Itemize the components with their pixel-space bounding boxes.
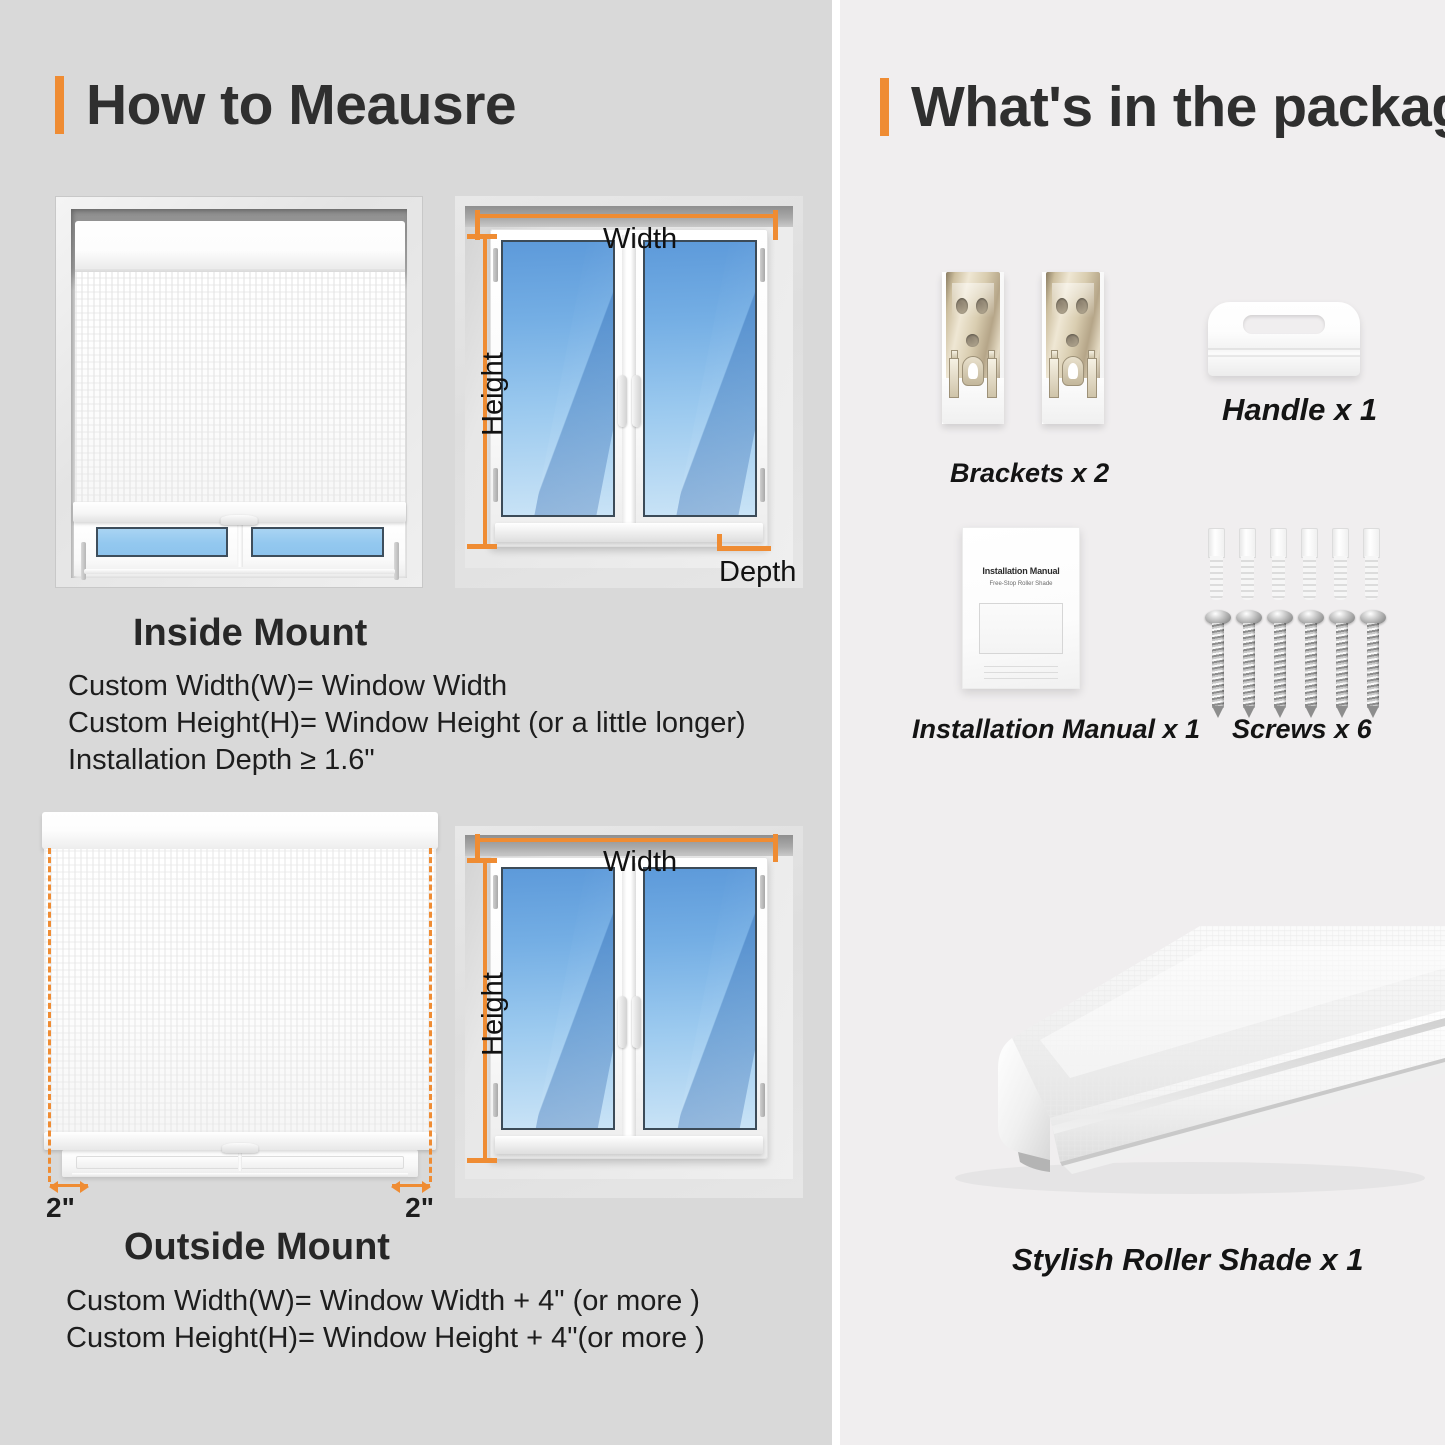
brackets-label: Brackets x 2 (950, 458, 1109, 489)
window-hinge-bottom-right (760, 468, 765, 502)
height-measure-cap-bottom (467, 1158, 497, 1163)
overhang-measure-left (50, 1184, 88, 1187)
anchor-body (1272, 556, 1285, 600)
anchor-head (1301, 528, 1318, 558)
overhang-label-right: 2" (405, 1192, 434, 1224)
screw-icon (1302, 610, 1320, 718)
inside-mount-line-2: Custom Height(H)= Window Height (or a li… (68, 705, 746, 742)
screw-icon (1209, 610, 1227, 718)
depth-measure-tick (717, 534, 722, 550)
screw-shaft (1243, 623, 1255, 708)
bracket-hole (1066, 334, 1079, 347)
width-measure-line (477, 838, 777, 842)
glass-reflection (668, 240, 757, 517)
manual-cover-line (984, 666, 1058, 667)
how-to-measure-heading: How to Meausre (55, 76, 516, 134)
window-sill (495, 523, 762, 542)
anchor-body (1365, 556, 1378, 600)
sash-hinge-left (81, 542, 86, 580)
wall-anchor-icon (1270, 528, 1287, 600)
screw-icon (1364, 610, 1382, 718)
window-sill (495, 1136, 762, 1154)
sash-sill (84, 569, 395, 574)
window-pane-left (501, 867, 615, 1130)
wall-anchor-icon (1363, 528, 1380, 600)
glass-pane-left (96, 527, 228, 557)
anchor-head (1363, 528, 1380, 558)
inside-mount-line-3: Installation Depth ≥ 1.6" (68, 742, 746, 779)
panel-divider (832, 0, 840, 1445)
bracket-hole (976, 298, 988, 314)
shade-fabric (44, 849, 435, 1132)
overhang-label-left: 2" (46, 1192, 75, 1224)
depth-measure-cap (717, 546, 771, 551)
width-measure-line (477, 214, 777, 218)
inside-mount-line-1: Custom Width(W)= Window Width (68, 668, 746, 705)
lower-sash-zone (74, 521, 405, 576)
width-label: Width (603, 223, 677, 256)
accent-bar-icon (880, 78, 889, 136)
glass-reflection (526, 240, 615, 517)
inside-mount-title: Inside Mount (133, 612, 367, 655)
bracket-keyhole (962, 356, 984, 386)
window-hinge-top-right (760, 248, 765, 282)
bracket-hole (966, 334, 979, 347)
window-handle-right-icon (632, 996, 641, 1048)
package-contents-panel: What's in the package (840, 0, 1445, 1445)
overhang-guide-left (48, 848, 51, 1182)
outside-mount-text-block: Custom Width(W)= Window Width + 4" (or m… (66, 1283, 705, 1357)
handle-grip-cutout (1243, 315, 1325, 334)
bracket-hole (1076, 298, 1088, 314)
wall-anchor-icon (1332, 528, 1349, 600)
infographic-page: How to Meausre (0, 0, 1445, 1445)
bracket-icon (1042, 272, 1104, 424)
height-measure-cap-top (467, 858, 497, 863)
window-handle-left-icon (618, 996, 627, 1048)
shade-pull-handle-icon (222, 1143, 258, 1152)
screws-icon-group (1208, 528, 1398, 698)
overhang-guide-right (429, 848, 432, 1182)
glass-pane-right (251, 527, 383, 557)
manual-cover-line (984, 678, 1058, 679)
inside-mount-text-block: Custom Width(W)= Window Width Custom Hei… (68, 668, 746, 779)
bracket-hole (956, 298, 968, 314)
height-label: Height (477, 972, 510, 1056)
page-title: How to Meausre (86, 77, 516, 134)
handle-icon (1208, 302, 1360, 376)
window-sill (72, 1173, 407, 1177)
manual-cover-subtitle: Free-Stop Roller Shade (972, 581, 1069, 587)
inside-mount-window-diagram: Width Height Depth (455, 196, 803, 588)
height-label: Height (477, 352, 510, 436)
screw-tip (1212, 706, 1224, 718)
inside-mount-shade-illustration (55, 196, 423, 588)
anchor-head (1270, 528, 1287, 558)
anchor-body (1303, 556, 1316, 600)
window-hinge-bottom-right (760, 1083, 765, 1117)
anchor-body (1210, 556, 1223, 600)
wall-anchor-icon (1239, 528, 1256, 600)
screws-label: Screws x 6 (1232, 714, 1372, 745)
height-measure-cap-top (467, 234, 497, 239)
window-pane-right (643, 867, 757, 1130)
bracket-side-slot (987, 358, 997, 398)
manual-label: Installation Manual x 1 (912, 714, 1200, 745)
shade-pull-handle-icon (221, 515, 258, 525)
manual-cover-figure (979, 603, 1063, 654)
anchor-head (1332, 528, 1349, 558)
package-heading: What's in the package (880, 78, 1445, 136)
screw-icon (1333, 610, 1351, 718)
bracket-hole (1056, 298, 1068, 314)
wall-anchor-icon (1301, 528, 1318, 600)
bracket-side-slot (1049, 358, 1059, 398)
handle-label: Handle x 1 (1222, 392, 1377, 428)
manual-icon: Installation Manual Free-Stop Roller Sha… (962, 527, 1080, 689)
anchor-head (1208, 528, 1225, 558)
screw-shaft (1274, 623, 1286, 708)
anchor-body (1334, 556, 1347, 600)
bracket-keyhole (1062, 356, 1084, 386)
shade-valance (75, 221, 405, 274)
screw-shaft (1305, 623, 1317, 708)
window-hinge-bottom-left (493, 1083, 498, 1117)
roller-shade-label: Stylish Roller Shade x 1 (1012, 1242, 1363, 1278)
outside-mount-window-diagram: Width Height (455, 826, 803, 1198)
outside-mount-line-2: Custom Height(H)= Window Height + 4"(or … (66, 1320, 705, 1357)
width-measure-cap-right (773, 210, 778, 240)
width-label: Width (603, 846, 677, 879)
screw-icon (1240, 610, 1258, 718)
how-to-measure-panel: How to Meausre (0, 0, 832, 1445)
glass-reflection (528, 867, 615, 1130)
handle-ridge (1208, 348, 1360, 350)
window-frame (490, 229, 768, 547)
shade-fabric (75, 272, 405, 503)
screw-shaft (1336, 623, 1348, 708)
manual-cover-line (984, 672, 1058, 673)
screw-shaft (1367, 623, 1379, 708)
window-hinge-bottom-left (493, 468, 498, 502)
anchor-body (1241, 556, 1254, 600)
overhang-measure-right (392, 1184, 430, 1187)
height-measure-cap-bottom (467, 544, 497, 549)
depth-label: Depth (719, 556, 796, 589)
handle-ridge (1208, 355, 1360, 357)
window-handle-right-icon (632, 375, 641, 427)
outside-mount-shade-illustration: 2" 2" (42, 812, 438, 1200)
window-hinge-top-right (760, 875, 765, 909)
window-pane-left (501, 240, 615, 517)
window-hinge-top-left (493, 248, 498, 282)
glass-reflection (670, 867, 757, 1130)
accent-bar-icon (55, 76, 64, 134)
roller-shade-icon (900, 890, 1445, 1220)
window-pane-right (643, 240, 757, 517)
package-title: What's in the package (911, 79, 1445, 136)
screw-shaft (1212, 623, 1224, 708)
shade-valance (42, 812, 438, 849)
window-behind-shade (62, 1150, 418, 1176)
manual-cover-title: Installation Manual (972, 566, 1069, 576)
anchor-head (1239, 528, 1256, 558)
wall-anchor-icon (1208, 528, 1225, 600)
sash-hinge-right (394, 542, 399, 580)
window-hinge-top-left (493, 875, 498, 909)
bracket-side-slot (949, 358, 959, 398)
outside-mount-line-1: Custom Width(W)= Window Width + 4" (or m… (66, 1283, 705, 1320)
window-handle-left-icon (618, 375, 627, 427)
roller-shade-illustration (900, 890, 1445, 1220)
bracket-side-slot (1087, 358, 1097, 398)
screw-icon (1271, 610, 1289, 718)
window-frame (490, 857, 768, 1159)
outside-mount-title: Outside Mount (124, 1226, 390, 1269)
width-measure-cap-right (773, 834, 778, 862)
bracket-icon (942, 272, 1004, 424)
sash-mullion (237, 524, 242, 568)
